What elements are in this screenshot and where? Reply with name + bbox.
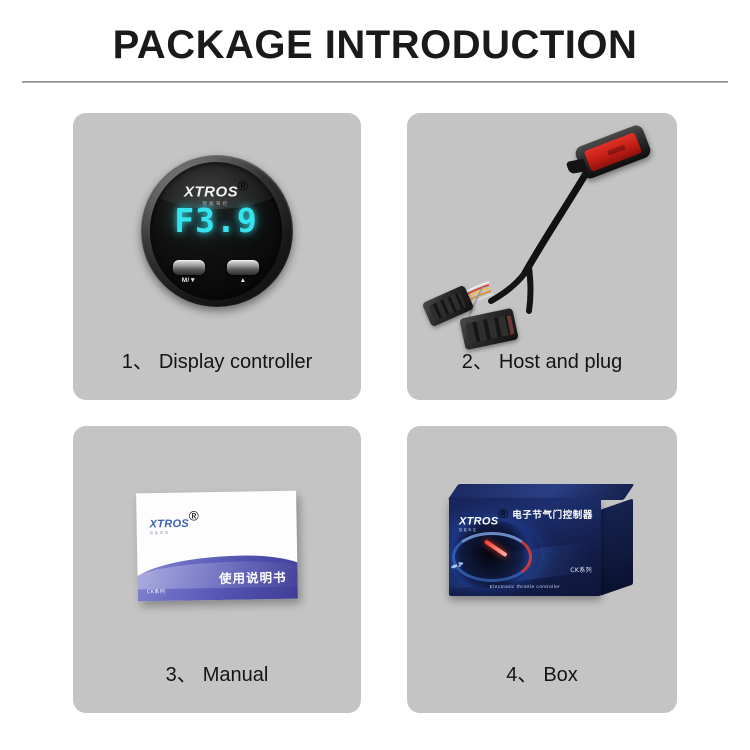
box-front-face: XTROS® 智能驾控 电子节气门控制器 CK系列 Electronic thr… <box>449 498 601 596</box>
registered-icon: ® <box>238 178 248 193</box>
package-items-grid: XTROS® 智能驾控 F3.9 M/▼ ▲ <box>0 113 750 713</box>
page-header: PACKAGE INTRODUCTION <box>0 0 750 83</box>
caption-number: 3、 <box>166 664 197 686</box>
box-title-cn: 电子节气门控制器 <box>512 507 593 521</box>
package-item-display-controller[interactable]: XTROS® 智能驾控 F3.9 M/▼ ▲ <box>73 113 361 400</box>
controller-buttons: M/▼ ▲ <box>150 260 282 284</box>
caption-display-controller: 1、Display controller <box>73 345 361 374</box>
caption-label: Manual <box>203 664 269 686</box>
box-side-face <box>601 498 633 595</box>
caption-number: 2、 <box>462 351 493 373</box>
mode-down-button[interactable] <box>173 260 205 275</box>
package-item-box[interactable]: XTROS® 智能驾控 电子节气门控制器 CK系列 Electronic thr… <box>407 426 677 713</box>
caption-manual: 3、Manual <box>73 658 361 687</box>
box-brand-logo: XTROS® 智能驾控 <box>459 507 508 533</box>
brand-subtext: 智能驾控 <box>150 532 199 536</box>
caption-host-and-plug: 2、Host and plug <box>407 345 677 374</box>
up-button-group[interactable]: ▲ <box>227 260 259 284</box>
caption-box: 4、Box <box>407 658 677 687</box>
plug-latch <box>498 315 515 336</box>
manual-series-label: CK系列 <box>147 588 165 595</box>
display-controller-image: XTROS® 智能驾控 F3.9 M/▼ ▲ <box>73 113 361 345</box>
caption-number: 4、 <box>506 664 537 686</box>
manual-booklet: XTROS® 智能驾控 使用说明书 CK系列 <box>136 491 298 602</box>
box-gauge-ticks <box>449 526 521 582</box>
host-module-red-label <box>584 132 642 172</box>
box-series-label: CK系列 <box>570 565 592 574</box>
package-item-host-and-plug[interactable]: 2、Host and plug <box>407 113 677 400</box>
brand-wordmark: XTROS <box>184 183 238 200</box>
caption-number: 1、 <box>122 351 153 373</box>
brand-wordmark: XTROS <box>459 515 498 527</box>
caption-label: Box <box>543 664 577 686</box>
manual-image: XTROS® 智能驾控 使用说明书 CK系列 <box>73 426 361 658</box>
page-title: PACKAGE INTRODUCTION <box>113 25 638 65</box>
brand-wordmark: XTROS <box>150 518 190 531</box>
brand-subtext: 智能驾控 <box>459 529 508 532</box>
retail-box: XTROS® 智能驾控 电子节气门控制器 CK系列 Electronic thr… <box>449 484 635 604</box>
manual-title-cn: 使用说明书 <box>219 567 287 587</box>
box-subtitle-en: Electronic throttle controller <box>449 584 601 589</box>
controller-face: XTROS® 智能驾控 F3.9 M/▼ ▲ <box>150 162 282 300</box>
registered-icon: ® <box>189 508 199 523</box>
caption-label: Host and plug <box>499 351 622 373</box>
mode-button-group[interactable]: M/▼ <box>173 260 205 284</box>
host-and-plug-image <box>407 113 677 345</box>
title-divider <box>22 81 728 83</box>
manual-brand-logo: XTROS® 智能驾控 <box>149 509 199 536</box>
controller-seven-segment-display: F3.9 <box>150 201 282 240</box>
up-button[interactable] <box>227 260 259 275</box>
registered-icon: ® <box>498 506 508 521</box>
box-image: XTROS® 智能驾控 电子节气门控制器 CK系列 Electronic thr… <box>407 426 677 658</box>
mode-down-button-label: M/▼ <box>173 277 205 284</box>
package-item-manual[interactable]: XTROS® 智能驾控 使用说明书 CK系列 3、Manual <box>73 426 361 713</box>
controller-device: XTROS® 智能驾控 F3.9 M/▼ ▲ <box>141 155 293 307</box>
caption-label: Display controller <box>159 351 312 373</box>
up-button-label: ▲ <box>227 277 259 284</box>
